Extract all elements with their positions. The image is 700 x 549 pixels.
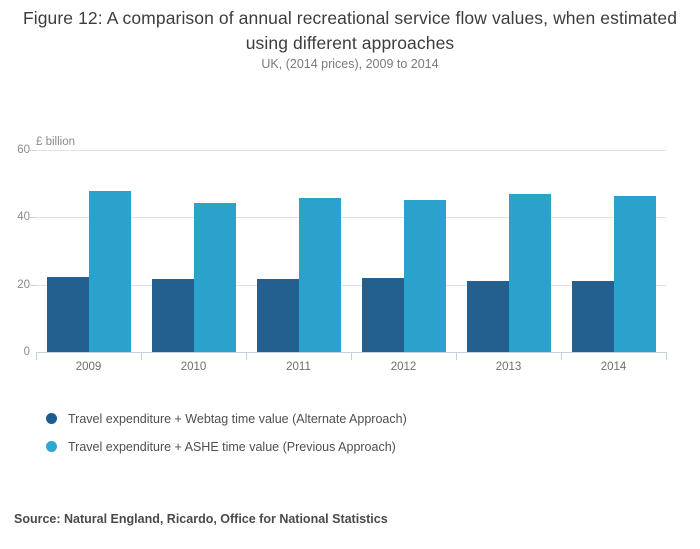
y-tick-label-0: 0 [4,346,30,358]
x-axis-label-2014: 2014 [561,361,666,373]
legend-swatch-icon-2 [46,441,57,452]
legend-label-1: Travel expenditure + Webtag time value (… [68,412,407,426]
plot-area [36,150,666,352]
bar-2009-series-1[interactable] [47,277,89,352]
x-axis-label-2011: 2011 [246,361,351,373]
x-tick-mark-2013 [456,352,457,360]
bar-2010-series-2[interactable] [194,203,236,352]
x-tick-mark-2011 [246,352,247,360]
source-note: Source: Natural England, Ricardo, Office… [14,512,388,526]
bar-2012-series-2[interactable] [404,200,446,352]
y-tick-label-40: 40 [4,211,30,223]
gridline-60 [36,150,666,151]
bar-2013-series-1[interactable] [467,281,509,352]
x-tick-mark-2012 [351,352,352,360]
bar-2012-series-1[interactable] [362,278,404,352]
x-tick-mark-2009 [36,352,37,360]
gridline-40 [36,217,666,218]
bar-2014-series-2[interactable] [614,196,656,352]
bar-2009-series-2[interactable] [89,191,131,352]
y-axis-ticks: 0204060 [0,150,30,352]
chart-legend: Travel expenditure + Webtag time value (… [46,408,407,464]
page-title: Figure 12: A comparison of annual recrea… [20,6,680,56]
bar-2014-series-1[interactable] [572,281,614,352]
x-axis-label-2013: 2013 [456,361,561,373]
y-axis-unit-label: £ billion [36,136,75,148]
x-axis-label-2012: 2012 [351,361,456,373]
y-tick-label-60: 60 [4,144,30,156]
bar-2011-series-1[interactable] [257,279,299,352]
legend-item-1[interactable]: Travel expenditure + Webtag time value (… [46,408,407,429]
figure-container: Figure 12: A comparison of annual recrea… [0,0,700,549]
legend-label-2: Travel expenditure + ASHE time value (Pr… [68,440,396,454]
x-tick-mark-2010 [141,352,142,360]
figure-subtitle: UK, (2014 prices), 2009 to 2014 [20,57,680,71]
bar-2013-series-2[interactable] [509,194,551,352]
bar-2010-series-1[interactable] [152,279,194,352]
x-axis-label-2010: 2010 [141,361,246,373]
x-axis-label-2009: 2009 [36,361,141,373]
legend-swatch-icon-1 [46,413,57,424]
bar-2011-series-2[interactable] [299,198,341,352]
y-tick-label-20: 20 [4,279,30,291]
legend-item-2[interactable]: Travel expenditure + ASHE time value (Pr… [46,436,407,457]
x-tick-mark-end [666,352,667,360]
x-tick-mark-2014 [561,352,562,360]
